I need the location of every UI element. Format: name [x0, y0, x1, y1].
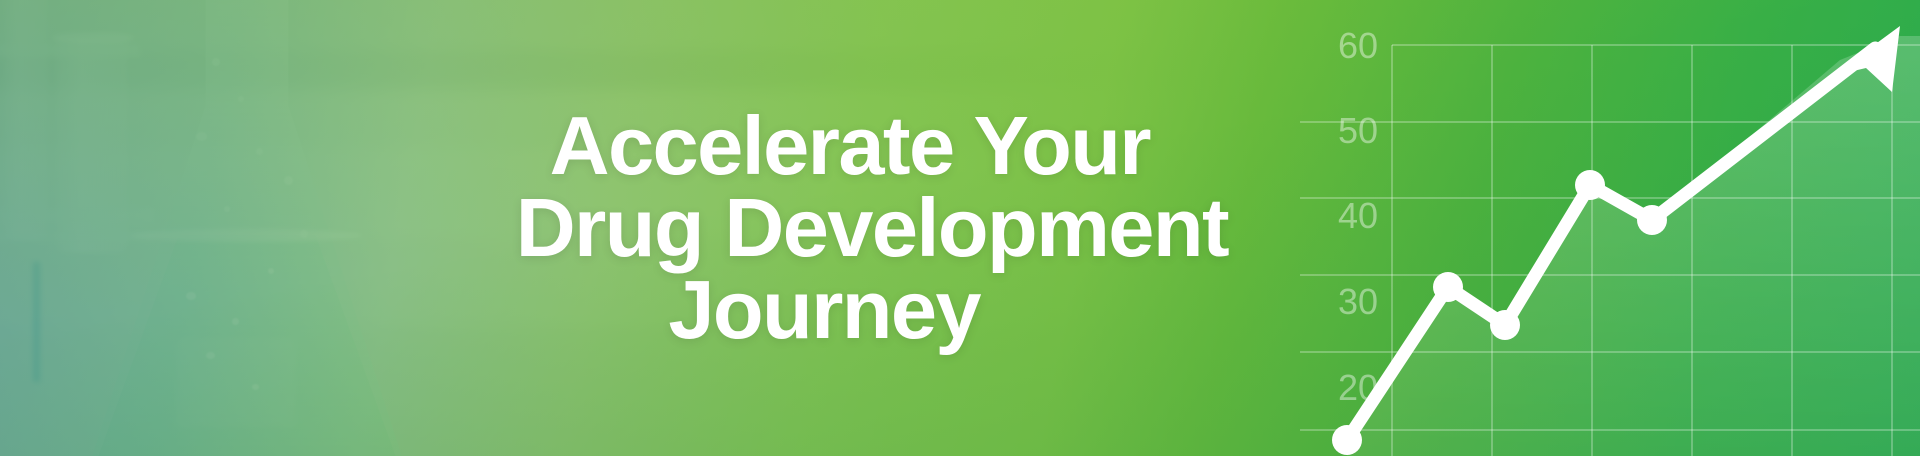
chart-area-fill [1347, 36, 1920, 456]
y-tick-label: 60 [1338, 25, 1378, 66]
y-tick-label: 40 [1338, 195, 1378, 236]
y-tick-label: 50 [1338, 110, 1378, 151]
headline-line-2: Drug Development [516, 187, 1228, 269]
headline-line-1: Accelerate Your [550, 105, 1228, 187]
chart-data-point [1575, 170, 1605, 200]
hero-headline: Accelerate Your Drug Development Journey [0, 0, 1250, 456]
chart-data-point [1433, 272, 1463, 302]
headline-line-3: Journey [668, 269, 1228, 351]
y-tick-label: 20 [1338, 367, 1378, 408]
growth-line-chart: 60 50 40 30 20 [1300, 0, 1920, 456]
chart-data-point [1637, 205, 1667, 235]
chart-data-point [1490, 310, 1520, 340]
chart-y-axis-labels: 60 50 40 30 20 [1338, 25, 1378, 408]
chart-data-point [1332, 425, 1362, 455]
hero-banner: 60 50 40 30 20 Accelerate Your Drug Deve… [0, 0, 1920, 456]
y-tick-label: 30 [1338, 281, 1378, 322]
